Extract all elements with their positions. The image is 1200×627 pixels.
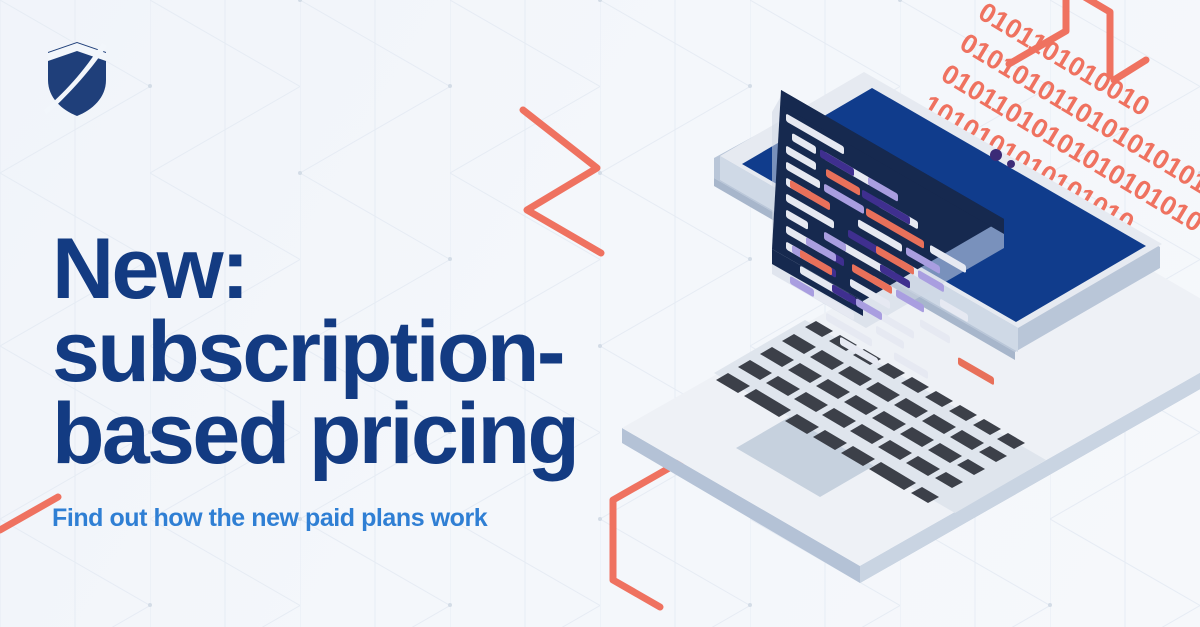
webcam-dots — [990, 149, 1015, 168]
laptop-base-top — [622, 198, 1200, 566]
laptop — [622, 72, 1200, 583]
laptop-base-side — [622, 336, 1200, 583]
svg-text:101010101010: 101010101010 — [899, 120, 1069, 239]
floating-code-window — [772, 90, 1004, 434]
svg-text:1010101010: 1010101010 — [881, 151, 1025, 254]
shield-logo — [44, 40, 110, 118]
screen-hinge — [714, 178, 1015, 360]
screen-lid-outer — [714, 76, 1160, 352]
svg-text:10101010: 10101010 — [862, 182, 980, 270]
svg-text:1010: 1010 — [825, 243, 892, 300]
screen-lid-edge-left — [720, 156, 1018, 352]
code-window-shadow — [772, 96, 1004, 328]
page-title: New: subscription- based pricing — [52, 228, 652, 476]
code-window-panel — [772, 90, 1004, 301]
promo-banner: 0101101010010 01010101101010101010 01011… — [0, 0, 1200, 627]
text-block: New: subscription- based pricing Find ou… — [52, 228, 652, 533]
screen-lid-face — [720, 72, 1162, 328]
coral-line-bottom-left — [0, 497, 58, 530]
svg-text:101010: 101010 — [844, 213, 937, 285]
code-lines — [786, 113, 994, 433]
svg-text:0101101010010: 0101101010010 — [973, 0, 1155, 122]
laptop-screen — [742, 88, 1146, 322]
svg-text:01010101101010101010: 01010101101010101010 — [955, 27, 1200, 207]
coral-line-topright-tail — [1114, 60, 1146, 80]
binary-digits-decoration: 0101101010010 01010101101010101010 01011… — [825, 0, 1200, 423]
subtitle: Find out how the new paid plans work — [52, 476, 652, 533]
svg-text:01011010101010101010: 01011010101010101010 — [936, 58, 1200, 238]
coral-zigzag-top-right — [1009, 0, 1110, 76]
keyboard-plate — [714, 320, 1046, 513]
svg-text:1010101010101010: 1010101010101010 — [918, 89, 1139, 238]
trackpad — [736, 401, 901, 497]
laptop-base-shade — [860, 336, 1200, 583]
keyboard — [716, 321, 1025, 503]
